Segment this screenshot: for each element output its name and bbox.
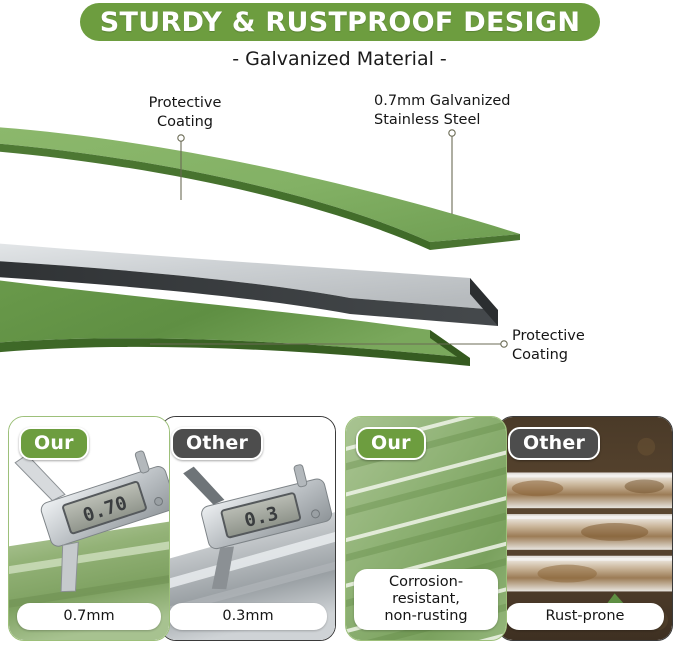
caption-thickness-other: 0.3mm	[169, 603, 327, 630]
caption-thickness-our: 0.7mm	[17, 603, 161, 630]
caption-corrosion-our: Corrosion-resistant, non-rusting	[354, 569, 498, 630]
comparison-group-thickness: 0.3 Other 0.3mm	[8, 412, 334, 645]
badge-other: Other	[171, 427, 263, 460]
comparison-group-corrosion: Other Rust-prone	[345, 412, 671, 645]
card-corrosion-our[interactable]: Our Corrosion-resistant, non-rusting	[345, 416, 507, 641]
card-corrosion-other[interactable]: Other Rust-prone	[497, 416, 673, 641]
card-thickness-our[interactable]: 0.70 Our 0.7mm	[8, 416, 170, 641]
badge-other: Other	[508, 427, 600, 460]
layer-diagram: Protective Coating 0.7mm Galvanized Stai…	[0, 82, 679, 402]
badge-our: Our	[356, 427, 426, 460]
header: STURDY & RUSTPROOF DESIGN	[0, 0, 679, 44]
header-banner: STURDY & RUSTPROOF DESIGN	[80, 3, 600, 41]
callout-protective-coating-bottom: Protective Coating	[512, 327, 662, 364]
caption-corrosion-other: Rust-prone	[506, 603, 664, 630]
header-subtitle: - Galvanized Material -	[0, 48, 679, 70]
card-thickness-other[interactable]: 0.3 Other 0.3mm	[160, 416, 336, 641]
badge-our: Our	[19, 427, 89, 460]
callout-galvanized-steel: 0.7mm Galvanized Stainless Steel	[374, 92, 544, 129]
diagram-layer-top-coating	[0, 124, 520, 250]
page-title: STURDY & RUSTPROOF DESIGN	[100, 7, 580, 38]
comparison-row: 0.3 Other 0.3mm	[0, 412, 679, 645]
callout-protective-coating-top: Protective Coating	[135, 94, 235, 131]
